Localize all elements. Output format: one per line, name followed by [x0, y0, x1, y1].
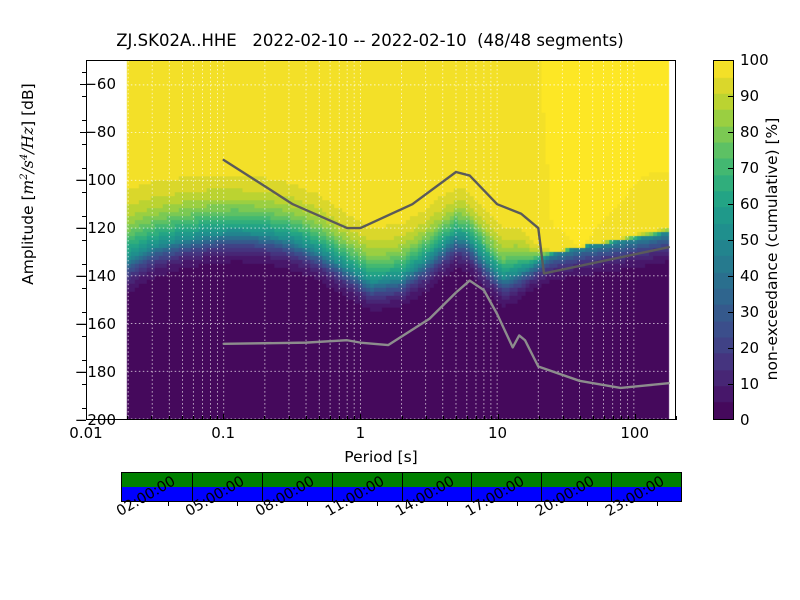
segment-divider — [611, 473, 612, 501]
x-minor-tick — [151, 416, 152, 420]
y-minor-tick — [82, 312, 86, 313]
y-minor-tick — [82, 144, 86, 145]
y-tick-label: −100 — [26, 171, 116, 189]
colorbar-tick-label: 20 — [740, 339, 759, 357]
x-minor-tick — [426, 416, 427, 420]
x-minor-tick — [628, 416, 629, 420]
y-minor-tick — [82, 96, 86, 97]
colorbar-tick-label: 90 — [740, 87, 759, 105]
y-axis-label-text: Amplitude [ — [19, 194, 37, 284]
timeline-tick-mark — [587, 502, 588, 506]
colorbar-tick-label: 80 — [740, 123, 759, 141]
y-tick-label: −120 — [26, 219, 116, 237]
x-minor-tick — [169, 416, 170, 420]
x-minor-tick — [354, 416, 355, 420]
timeline-tick-mark — [447, 502, 448, 506]
y-minor-tick — [82, 384, 86, 385]
x-minor-tick — [289, 416, 290, 420]
x-minor-tick — [210, 416, 211, 420]
timeline-tick-mark — [307, 502, 308, 506]
x-minor-tick — [319, 416, 320, 420]
x-minor-tick — [593, 416, 594, 420]
y-tick-mark — [80, 228, 86, 229]
y-minor-tick — [82, 120, 86, 121]
segment-divider — [402, 473, 403, 501]
y-minor-tick — [82, 264, 86, 265]
y-tick-label: −140 — [26, 267, 116, 285]
y-tick-label: −160 — [26, 315, 116, 333]
y-minor-tick — [82, 336, 86, 337]
timeline-tick-mark — [237, 502, 238, 506]
ppsd-figure: ZJ.SK02A..HHE 2022-02-10 -- 2022-02-10 (… — [0, 0, 800, 600]
x-minor-tick — [621, 416, 622, 420]
x-tick-label: 1 — [356, 424, 366, 442]
colorbar-tick-mark — [728, 384, 734, 385]
x-minor-tick — [467, 416, 468, 420]
colorbar-tick-mark — [728, 348, 734, 349]
x-minor-tick — [580, 416, 581, 420]
segment-divider — [471, 473, 472, 501]
timeline-tick-mark — [657, 502, 658, 506]
x-minor-tick — [456, 416, 457, 420]
y-minor-tick — [82, 360, 86, 361]
colorbar-tick-label: 0 — [740, 411, 750, 429]
y-tick-mark — [80, 132, 86, 133]
y-tick-label: −60 — [26, 75, 116, 93]
x-minor-tick — [443, 416, 444, 420]
y-tick-mark — [80, 276, 86, 277]
y-tick-mark — [80, 324, 86, 325]
y-minor-tick — [82, 216, 86, 217]
x-minor-tick — [306, 416, 307, 420]
segment-divider — [192, 473, 193, 501]
x-tick-mark — [635, 414, 636, 420]
colorbar-tick-mark — [728, 240, 734, 241]
timeline-tick-mark — [377, 502, 378, 506]
x-tick-label: 0.1 — [211, 424, 235, 442]
x-minor-tick — [127, 416, 128, 420]
x-minor-tick — [604, 416, 605, 420]
x-tick-mark — [360, 414, 361, 420]
colorbar-tick-mark — [728, 276, 734, 277]
x-minor-tick — [491, 416, 492, 420]
segment-divider — [332, 473, 333, 501]
colorbar-tick-label: 50 — [740, 231, 759, 249]
x-tick-label: 0.01 — [69, 424, 102, 442]
colorbar-tick-mark — [728, 168, 734, 169]
x-tick-mark — [223, 414, 224, 420]
colorbar-tick-label: 60 — [740, 195, 759, 213]
y-minor-tick — [82, 192, 86, 193]
colorbar-tick-label: 70 — [740, 159, 759, 177]
colorbar-tick-label: 10 — [740, 375, 759, 393]
colorbar-tick-label: 40 — [740, 267, 759, 285]
x-minor-tick — [476, 416, 477, 420]
timeline-tick-mark — [168, 502, 169, 506]
y-tick-mark — [80, 420, 86, 421]
x-tick-mark — [86, 414, 87, 420]
y-minor-tick — [82, 72, 86, 73]
x-tick-label: 100 — [620, 424, 649, 442]
x-tick-label: 10 — [488, 424, 507, 442]
ppsd-heatmap — [87, 61, 675, 419]
x-minor-tick — [193, 416, 194, 420]
x-minor-tick — [539, 416, 540, 420]
colorbar-tick-mark — [728, 204, 734, 205]
y-tick-label: −80 — [26, 123, 116, 141]
y-minor-tick — [82, 408, 86, 409]
x-minor-tick — [676, 416, 677, 420]
colorbar-tick-label: 30 — [740, 303, 759, 321]
y-minor-tick — [82, 168, 86, 169]
x-minor-tick — [202, 416, 203, 420]
y-tick-mark — [80, 180, 86, 181]
x-minor-tick — [347, 416, 348, 420]
timeline-tick-mark — [517, 502, 518, 506]
x-minor-tick — [264, 416, 265, 420]
x-tick-mark — [498, 414, 499, 420]
x-minor-tick — [563, 416, 564, 420]
y-minor-tick — [82, 288, 86, 289]
ppsd-axes — [86, 60, 676, 420]
figure-title: ZJ.SK02A..HHE 2022-02-10 -- 2022-02-10 (… — [0, 31, 740, 50]
y-tick-mark — [80, 372, 86, 373]
x-axis-label: Period [s] — [86, 448, 676, 466]
x-minor-tick — [402, 416, 403, 420]
segment-divider — [262, 473, 263, 501]
y-axis-label: Amplitude [m2/s4/Hz] [dB] — [19, 0, 37, 394]
x-minor-tick — [484, 416, 485, 420]
x-minor-tick — [330, 416, 331, 420]
y-minor-tick — [82, 240, 86, 241]
y-tick-mark — [80, 84, 86, 85]
colorbar-tick-mark — [728, 132, 734, 133]
colorbar-tick-mark — [728, 96, 734, 97]
x-minor-tick — [339, 416, 340, 420]
x-minor-tick — [613, 416, 614, 420]
x-minor-tick — [182, 416, 183, 420]
y-tick-label: −180 — [26, 363, 116, 381]
x-minor-tick — [217, 416, 218, 420]
segment-divider — [541, 473, 542, 501]
colorbar-label: non-exceedance (cumulative) [%] — [763, 39, 781, 459]
colorbar-tick-mark — [728, 312, 734, 313]
